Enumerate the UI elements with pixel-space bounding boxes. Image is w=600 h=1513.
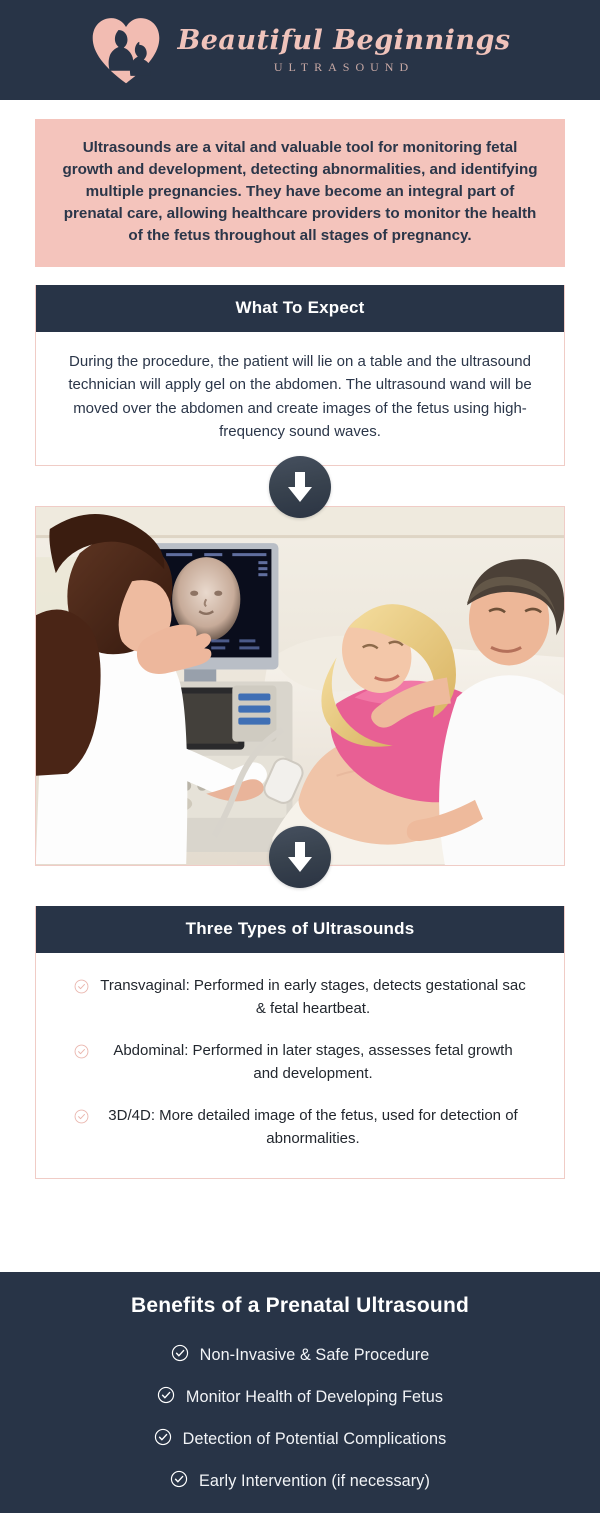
what-to-expect-body: During the procedure, the patient will l… bbox=[36, 332, 564, 465]
arrow-down-divider-1 bbox=[0, 456, 600, 518]
type-text: Abdominal: Performed in later stages, as… bbox=[100, 1040, 526, 1085]
heart-mother-baby-icon bbox=[89, 15, 163, 85]
type-text: Transvaginal: Performed in early stages,… bbox=[100, 975, 526, 1020]
arrow-down-circle-icon bbox=[269, 826, 331, 888]
intro-section: Ultrasounds are a vital and valuable too… bbox=[35, 119, 565, 267]
benefit-text: Detection of Potential Complications bbox=[183, 1430, 447, 1449]
benefits-heading: Benefits of a Prenatal Ultrasound bbox=[0, 1294, 600, 1318]
list-item: Abdominal: Performed in later stages, as… bbox=[74, 1040, 526, 1085]
brand-lockup: Beautiful Beginnings ULTRASOUND bbox=[177, 27, 510, 73]
brand-subtitle: ULTRASOUND bbox=[274, 61, 414, 73]
brand-name: Beautiful Beginnings bbox=[177, 27, 510, 54]
benefit-text: Monitor Health of Developing Fetus bbox=[186, 1388, 443, 1407]
check-circle-icon bbox=[157, 1386, 175, 1409]
check-circle-icon bbox=[74, 978, 89, 1001]
check-circle-icon bbox=[74, 1108, 89, 1131]
list-item: Detection of Potential Complications bbox=[0, 1428, 600, 1451]
list-item: Monitor Health of Developing Fetus bbox=[0, 1386, 600, 1409]
types-heading: Three Types of Ultrasounds bbox=[36, 906, 564, 953]
list-item: Transvaginal: Performed in early stages,… bbox=[74, 975, 526, 1020]
ultrasound-scene-illustration bbox=[36, 507, 564, 865]
benefits-section: Benefits of a Prenatal Ultrasound Non-In… bbox=[0, 1272, 600, 1513]
arrow-down-divider-2 bbox=[0, 826, 600, 888]
check-circle-icon bbox=[74, 1043, 89, 1066]
intro-paragraph: Ultrasounds are a vital and valuable too… bbox=[35, 119, 565, 267]
arrow-down-circle-icon bbox=[269, 456, 331, 518]
list-item: 3D/4D: More detailed image of the fetus,… bbox=[74, 1105, 526, 1150]
infographic-page: Beautiful Beginnings ULTRASOUND Ultrasou… bbox=[0, 0, 600, 1513]
list-item: Early Intervention (if necessary) bbox=[0, 1470, 600, 1493]
type-text: 3D/4D: More detailed image of the fetus,… bbox=[100, 1105, 526, 1150]
site-header: Beautiful Beginnings ULTRASOUND bbox=[0, 0, 600, 100]
check-circle-icon bbox=[154, 1428, 172, 1451]
benefit-text: Early Intervention (if necessary) bbox=[199, 1472, 430, 1491]
list-item: Non-Invasive & Safe Procedure bbox=[0, 1344, 600, 1367]
types-card: Three Types of Ultrasounds Transvaginal:… bbox=[35, 906, 565, 1179]
check-circle-icon bbox=[171, 1344, 189, 1367]
what-to-expect-heading: What To Expect bbox=[36, 285, 564, 332]
check-circle-icon bbox=[170, 1470, 188, 1493]
what-to-expect-card: What To Expect During the procedure, the… bbox=[35, 285, 565, 466]
benefit-text: Non-Invasive & Safe Procedure bbox=[200, 1346, 430, 1365]
ultrasound-photo bbox=[35, 506, 565, 866]
